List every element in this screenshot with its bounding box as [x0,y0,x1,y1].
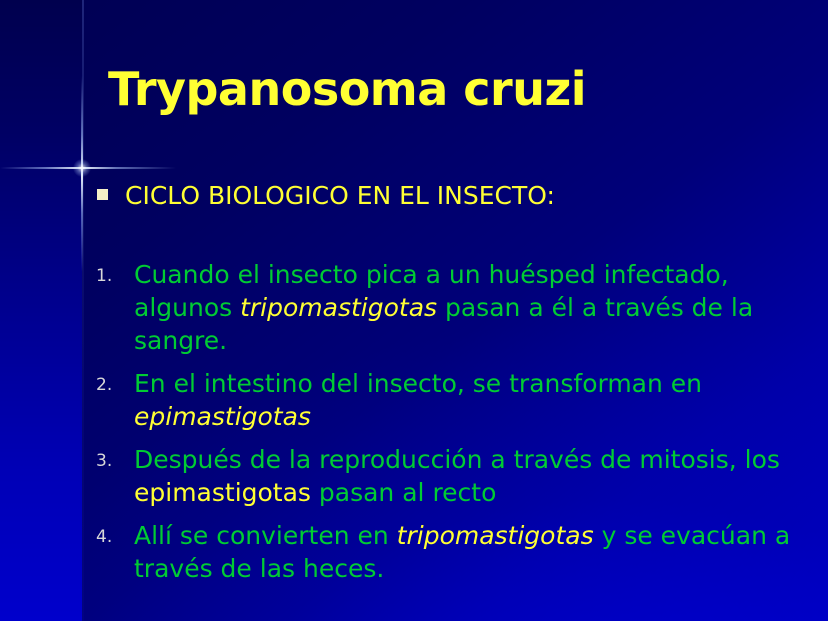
text-run: Allí se convierten en [134,521,397,550]
emphasis-term: tripomastigotas [397,521,594,550]
list-item-text: Allí se convierten en tripomastigotas y … [134,519,796,585]
list-item: 1.Cuando el insecto pica a un huésped in… [96,258,796,357]
presentation-slide: Trypanosoma cruzi CICLO BIOLOGICO EN EL … [0,0,828,621]
emphasis-term: epimastigotas [134,478,311,507]
list-item: 3.Después de la reproducción a través de… [96,443,796,509]
emphasis-term: tripomastigotas [240,293,437,322]
numbered-list: 1.Cuando el insecto pica a un huésped in… [96,258,796,595]
heading-bullet-row: CICLO BIOLOGICO EN EL INSECTO: [97,181,555,210]
left-accent-strip [0,0,82,621]
list-item: 4.Allí se convierten en tripomastigotas … [96,519,796,585]
text-run: En el intestino del insecto, se transfor… [134,369,702,398]
list-item-number: 1. [96,258,134,286]
emphasis-term: epimastigotas [134,402,311,431]
square-bullet-icon [97,189,108,200]
list-item-number: 4. [96,519,134,547]
heading-text: CICLO BIOLOGICO EN EL INSECTO: [125,181,555,210]
list-item: 2.En el intestino del insecto, se transf… [96,367,796,433]
text-run: Después de la reproducción a través de m… [134,445,780,474]
strip-seam-divider [82,0,84,621]
list-item-text: Cuando el insecto pica a un huésped infe… [134,258,796,357]
text-run: pasan al recto [311,478,496,507]
list-item-number: 3. [96,443,134,471]
slide-title: Trypanosoma cruzi [108,62,586,116]
list-item-text: Después de la reproducción a través de m… [134,443,796,509]
list-item-number: 2. [96,367,134,395]
list-item-text: En el intestino del insecto, se transfor… [134,367,796,433]
